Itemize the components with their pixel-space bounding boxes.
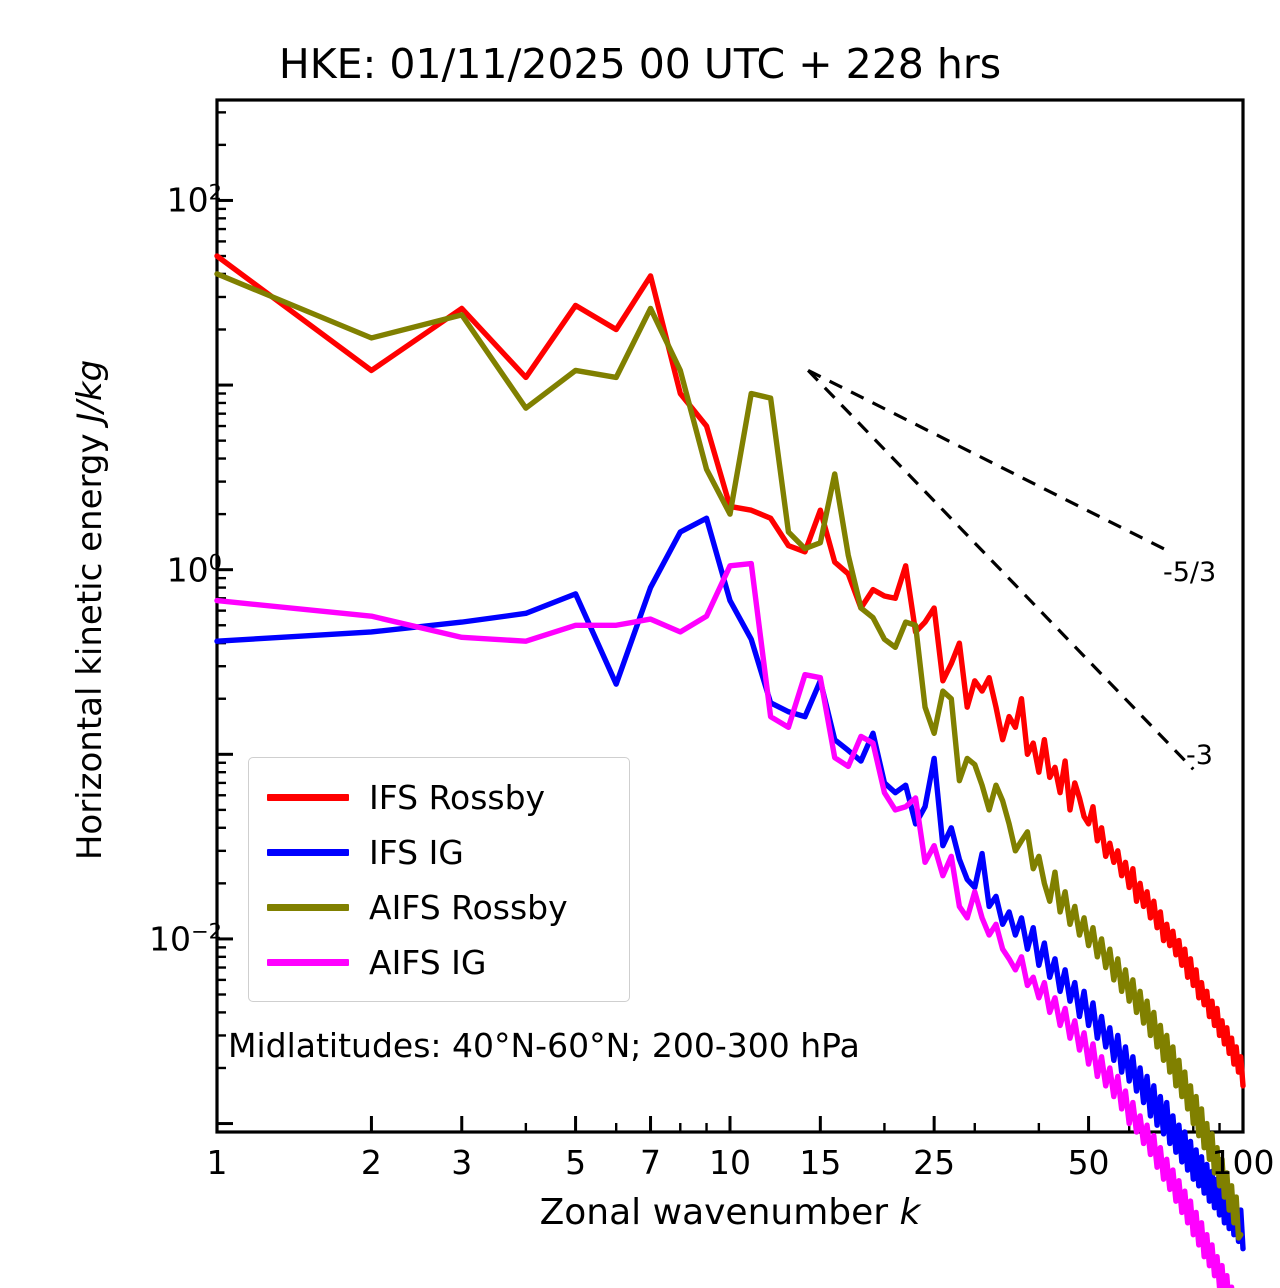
legend-swatch-icon (267, 904, 349, 911)
x-tick-label: 2 (361, 1143, 382, 1182)
slope-label-minus-three: -3 (1186, 740, 1213, 771)
chart-figure: HKE: 01/11/2025 00 UTC + 228 hrs Horizon… (0, 0, 1280, 1288)
legend-item-aifs-rossby[interactable]: AIFS Rossby (249, 880, 629, 935)
legend-label: IFS Rossby (369, 781, 545, 814)
x-tick-label: 1 (207, 1143, 228, 1182)
x-tick-label: 15 (799, 1143, 841, 1182)
legend-label: IFS IG (369, 836, 464, 869)
y-tick-label: 102 (167, 181, 222, 220)
legend-label: AIFS IG (369, 946, 486, 979)
legend: IFS RossbyIFS IGAIFS RossbyAIFS IG (248, 757, 630, 1002)
series-line-aifs-rossby (217, 274, 1241, 1238)
legend-swatch-icon (267, 959, 349, 966)
legend-swatch-icon (267, 794, 349, 801)
x-tick-label: 5 (565, 1143, 586, 1182)
legend-item-ifs-ig[interactable]: IFS IG (249, 825, 629, 880)
slope-label-five-thirds: -5/3 (1163, 557, 1216, 588)
x-tick-label: 3 (451, 1143, 472, 1182)
x-tick-label: 10 (709, 1143, 751, 1182)
x-tick-label: 100 (1212, 1143, 1275, 1182)
y-tick-label: 100 (167, 550, 222, 589)
x-tick-label: 50 (1068, 1143, 1110, 1182)
legend-swatch-icon (267, 849, 349, 856)
y-tick-label: 10−2 (149, 919, 222, 958)
legend-item-aifs-ig[interactable]: AIFS IG (249, 935, 629, 990)
legend-label: AIFS Rossby (369, 891, 568, 924)
legend-item-ifs-rossby[interactable]: IFS Rossby (249, 770, 629, 825)
x-tick-label: 7 (640, 1143, 661, 1182)
slope-reference-lines (808, 370, 1193, 769)
x-tick-label: 25 (913, 1143, 955, 1182)
region-annotation: Midlatitudes: 40°N-60°N; 200-300 hPa (228, 1026, 860, 1065)
